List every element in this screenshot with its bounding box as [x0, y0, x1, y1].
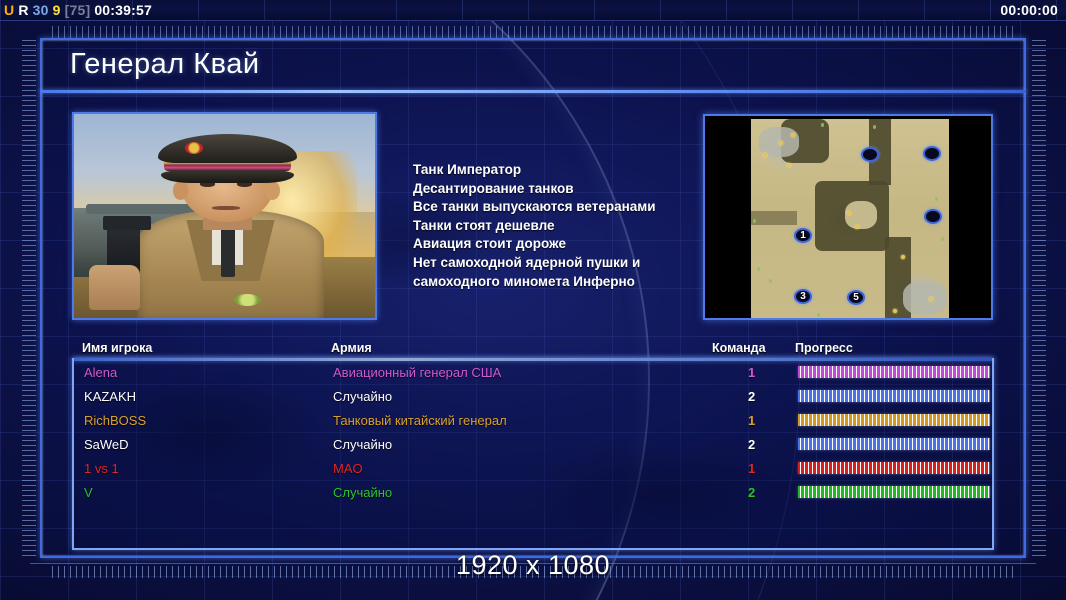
ability-line-6: самоходного миномета Инферно [413, 273, 713, 292]
minimap-start-position-empty-2[interactable] [924, 209, 942, 224]
table-row[interactable]: KAZAKHСлучайно2 [74, 386, 996, 410]
player-army: Авиационный генерал США [333, 365, 501, 380]
minimap-supply [855, 225, 859, 229]
player-team: 2 [748, 485, 755, 500]
minimap-tree [817, 313, 820, 317]
player-name: Alena [84, 365, 117, 380]
minimap-tree [821, 123, 824, 127]
portrait-cap-badge [185, 142, 203, 154]
minimap-frame[interactable]: 135 [703, 114, 993, 320]
ability-line-5: Нет самоходной ядерной пушки и [413, 254, 713, 273]
player-progress-bar [798, 414, 990, 426]
page-title: Генерал Квай [70, 48, 260, 81]
player-progress-fill [798, 414, 990, 426]
minimap-supply [763, 153, 767, 157]
ruler-right [1032, 40, 1046, 556]
player-progress-bar [798, 438, 990, 450]
player-army: Случайно [333, 437, 392, 452]
player-progress-bar [798, 366, 990, 378]
player-progress-bar [798, 462, 990, 474]
header-player-name: Имя игрока [82, 341, 152, 355]
minimap-supply [929, 297, 933, 301]
player-progress-bar [798, 390, 990, 402]
minimap-supply [791, 133, 795, 137]
player-progress-fill [798, 390, 990, 402]
header-army: Армия [331, 341, 372, 355]
minimap-tree [753, 219, 756, 223]
general-portrait-image [74, 114, 375, 318]
minimap-tree [935, 197, 938, 201]
player-army: MAO [333, 461, 363, 476]
resolution-label: 1920 x 1080 [0, 550, 1066, 581]
minimap-tree [873, 125, 876, 129]
minimap-start-position-3[interactable]: 3 [794, 289, 812, 304]
player-team: 2 [748, 389, 755, 404]
player-progress-fill [798, 462, 990, 474]
header-team: Команда [712, 341, 766, 355]
title-separator [40, 90, 1026, 93]
portrait-ear-right [265, 181, 280, 199]
portrait-pistol-slide [103, 216, 151, 230]
minimap-tree [769, 279, 772, 283]
player-team: 1 [748, 461, 755, 476]
minimap-supply [847, 211, 851, 215]
ruler-left [22, 40, 36, 556]
top-hud-bar: UR309[75]00:39:57 00:00:00 [0, 0, 1066, 21]
player-progress-fill [798, 366, 990, 378]
portrait-hand [89, 265, 140, 310]
portrait-chest-badge [234, 294, 261, 306]
minimap-supply [779, 141, 783, 145]
minimap-terrain-dark [751, 211, 797, 225]
player-name: RichBOSS [84, 413, 146, 428]
portrait-mouth [212, 206, 239, 210]
ability-line-0: Танк Император [413, 161, 713, 180]
portrait-cap-brim [161, 169, 293, 183]
ability-line-1: Десантирование танков [413, 180, 713, 199]
game-lobby-screen: UR309[75]00:39:57 00:00:00 Генерал Квай [0, 0, 1066, 600]
portrait-ear-left [173, 181, 188, 199]
player-team: 1 [748, 413, 755, 428]
player-army: Случайно [333, 389, 392, 404]
minimap-terrain-light [903, 281, 947, 315]
hud-timer-right: 00:00:00 [1000, 2, 1058, 18]
hud-segment-2: 30 [33, 2, 49, 18]
minimap-start-position-empty-1[interactable] [923, 146, 941, 161]
hud-segment-4: [75] [65, 2, 91, 18]
minimap-terrain-light [845, 201, 877, 229]
general-portrait-frame [72, 112, 377, 320]
minimap-start-position-5[interactable]: 5 [847, 290, 865, 305]
player-name: KAZAKH [84, 389, 136, 404]
player-army: Случайно [333, 485, 392, 500]
minimap-supply [893, 309, 897, 313]
top-hud-grid [0, 0, 1066, 20]
portrait-tie [221, 224, 235, 277]
table-row[interactable]: AlenaАвиационный генерал США1 [74, 362, 996, 386]
minimap-image: 135 [751, 119, 949, 319]
minimap-supply [901, 255, 905, 259]
hud-segment-3: 9 [53, 2, 61, 18]
ability-line-2: Все танки выпускаются ветеранами [413, 198, 713, 217]
hud-status-left: UR309[75]00:39:57 [0, 2, 156, 18]
player-list-header: Имя игрока Армия Команда Прогресс [82, 341, 992, 357]
ability-line-4: Авиация стоит дороже [413, 235, 713, 254]
player-progress-fill [798, 438, 990, 450]
player-name: SaWeD [84, 437, 129, 452]
minimap-tree [757, 267, 760, 271]
player-progress-fill [798, 486, 990, 498]
minimap-supply [787, 163, 791, 167]
table-row[interactable]: SaWeDСлучайно2 [74, 434, 996, 458]
player-team: 2 [748, 437, 755, 452]
minimap-start-position-1[interactable]: 1 [794, 228, 812, 243]
player-name: V [84, 485, 93, 500]
ruler-top [52, 26, 1014, 38]
player-progress-bar [798, 486, 990, 498]
table-row[interactable]: VСлучайно2 [74, 482, 996, 506]
header-progress: Прогресс [795, 341, 853, 355]
player-name: 1 vs 1 [84, 461, 119, 476]
table-row[interactable]: RichBOSSТанковый китайский генерал1 [74, 410, 996, 434]
minimap-start-position-empty-0[interactable] [861, 147, 879, 162]
player-army: Танковый китайский генерал [333, 413, 507, 428]
ability-line-3: Танки стоят дешевле [413, 217, 713, 236]
player-team: 1 [748, 365, 755, 380]
minimap-tree [941, 237, 944, 241]
player-list: AlenaАвиационный генерал США1KAZAKHСлуча… [72, 358, 994, 550]
hud-segment-0: U [4, 2, 14, 18]
table-row[interactable]: 1 vs 1MAO1 [74, 458, 996, 482]
hud-segment-1: R [18, 2, 28, 18]
hud-segment-5: 00:39:57 [94, 2, 152, 18]
general-ability-list: Танк ИмператорДесантирование танковВсе т… [413, 161, 713, 291]
